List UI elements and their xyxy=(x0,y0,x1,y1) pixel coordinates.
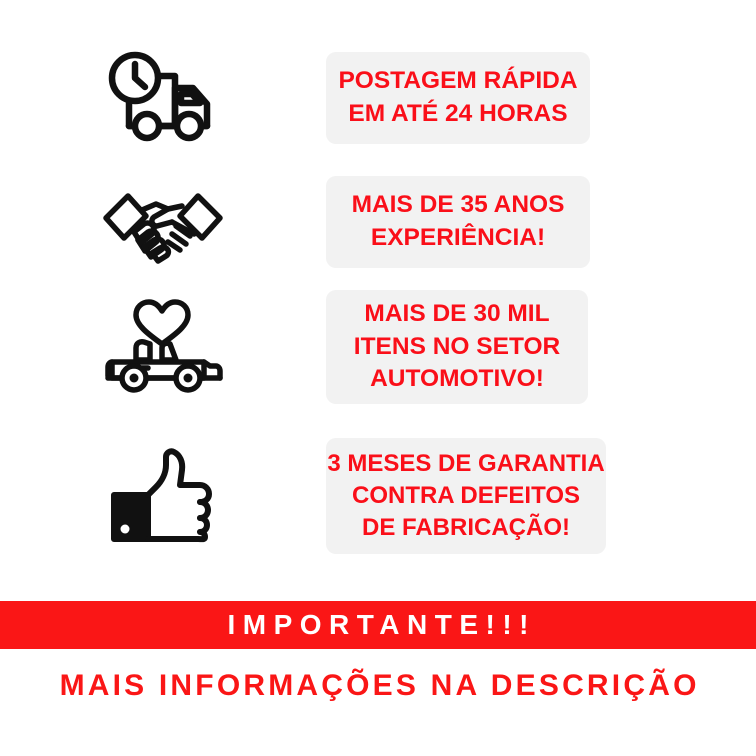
car-heart-icon xyxy=(0,292,326,402)
feature-text-card: POSTAGEM RÁPIDA EM ATÉ 24 HORAS xyxy=(326,52,590,144)
feature-text-line: CONTRA DEFEITOS xyxy=(352,480,580,512)
feature-text-line: AUTOMOTIVO! xyxy=(370,363,544,396)
thumbs-up-icon xyxy=(0,443,326,549)
feature-row: POSTAGEM RÁPIDA EM ATÉ 24 HORAS xyxy=(0,48,756,148)
feature-text-line: MAIS DE 30 MIL xyxy=(364,298,549,331)
feature-text-line: POSTAGEM RÁPIDA xyxy=(338,65,577,98)
delivery-truck-clock-icon xyxy=(0,48,326,148)
important-notice-block: IMPORTANTE!!! MAIS INFORMAÇÕES NA DESCRI… xyxy=(0,596,756,756)
important-banner-text: IMPORTANTE!!! xyxy=(220,609,536,641)
feature-text-card: 3 MESES DE GARANTIA CONTRA DEFEITOS DE F… xyxy=(326,438,606,554)
feature-text-card: MAIS DE 30 MIL ITENS NO SETOR AUTOMOTIVO… xyxy=(326,290,588,404)
description-notice-text: MAIS INFORMAÇÕES NA DESCRIÇÃO xyxy=(56,669,699,703)
feature-text-card: MAIS DE 35 ANOS EXPERIÊNCIA! xyxy=(326,176,590,268)
important-banner: IMPORTANTE!!! xyxy=(0,601,756,649)
feature-text-line: DE FABRICAÇÃO! xyxy=(362,512,570,544)
handshake-icon xyxy=(0,176,326,268)
feature-row: 3 MESES DE GARANTIA CONTRA DEFEITOS DE F… xyxy=(0,436,756,556)
feature-row: MAIS DE 30 MIL ITENS NO SETOR AUTOMOTIVO… xyxy=(0,288,756,406)
feature-text-line: MAIS DE 35 ANOS xyxy=(352,189,565,222)
feature-text-line: EM ATÉ 24 HORAS xyxy=(348,98,567,131)
feature-text-line: 3 MESES DE GARANTIA xyxy=(327,448,604,480)
promo-banner: POSTAGEM RÁPIDA EM ATÉ 24 HORAS xyxy=(0,0,756,756)
feature-text-line: ITENS NO SETOR xyxy=(354,331,560,364)
feature-text-line: EXPERIÊNCIA! xyxy=(371,222,545,255)
description-notice: MAIS INFORMAÇÕES NA DESCRIÇÃO xyxy=(0,660,756,712)
feature-row: MAIS DE 35 ANOS EXPERIÊNCIA! xyxy=(0,172,756,272)
